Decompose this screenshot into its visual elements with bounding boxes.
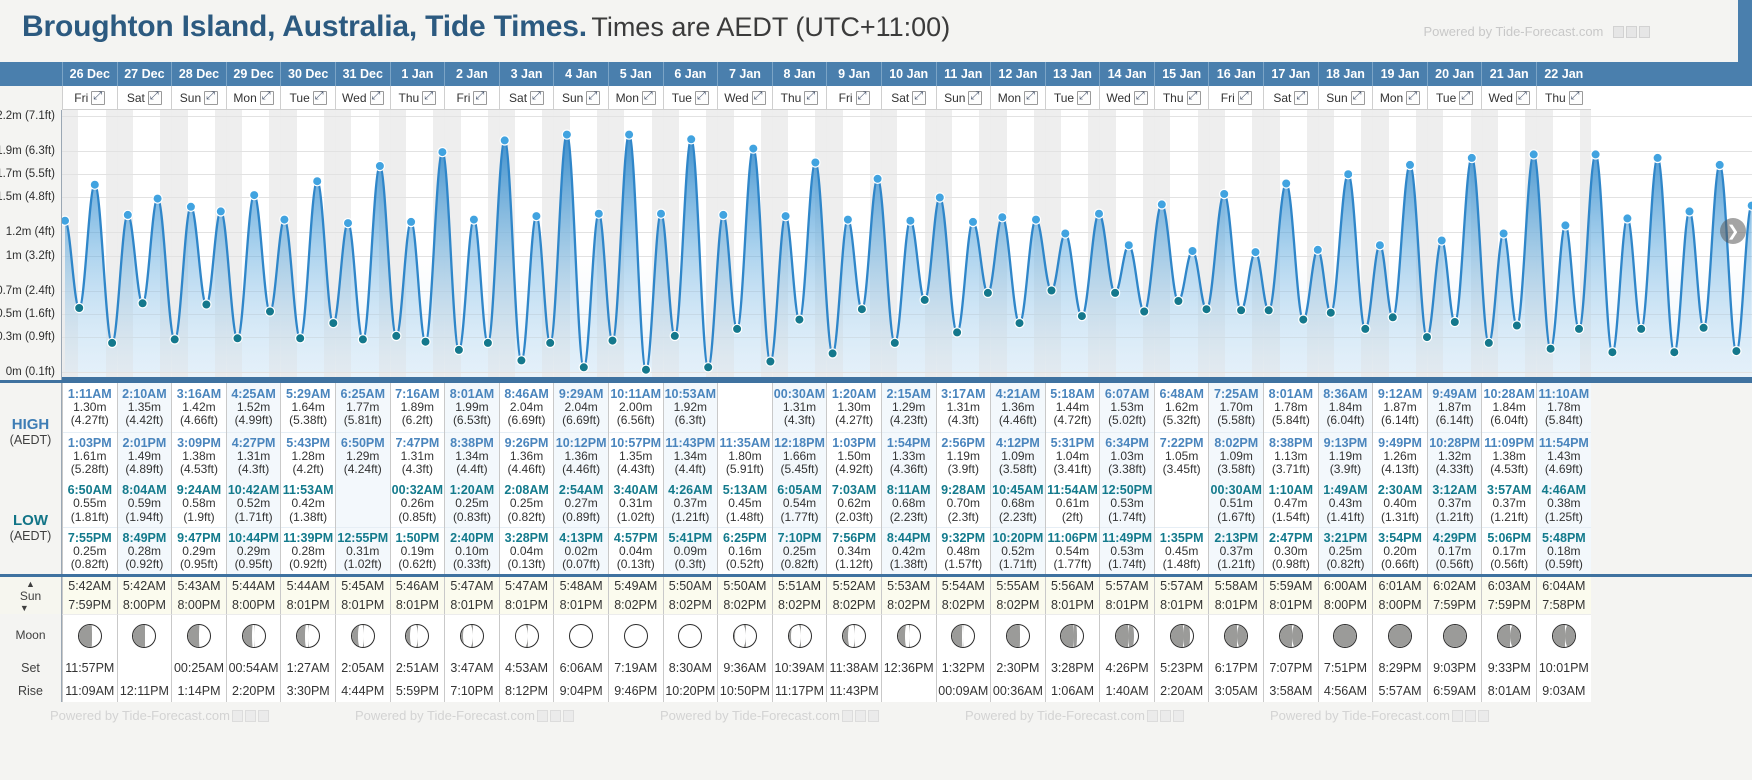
weekday-header-cell[interactable]: Mon xyxy=(1372,86,1427,110)
expand-icon[interactable] xyxy=(642,91,656,105)
high-tide-point[interactable] xyxy=(906,216,915,225)
moon-phase-cell xyxy=(280,614,335,656)
high-tide-cell[interactable]: 2:10AM1.35m(4.42ft)2:01PM1.49m(4.89ft) xyxy=(117,383,172,480)
weekday-header-cell[interactable]: Sun xyxy=(936,86,991,110)
low-tide-point[interactable] xyxy=(795,315,804,324)
expand-icon[interactable] xyxy=(752,91,766,105)
tide-event: 8:49PM0.28m(0.92ft) xyxy=(118,527,172,574)
high-tide-point[interactable] xyxy=(749,144,758,153)
high-tide-point[interactable] xyxy=(1405,160,1414,169)
sunrise-time: 5:55AM xyxy=(996,577,1039,595)
tide-height-m: 0.42m xyxy=(892,545,925,558)
weekday-header-cell[interactable]: Sat xyxy=(1263,86,1318,110)
high-tide-cell[interactable]: 2:15AM1.29m(4.23ft)1:54PM1.33m(4.36ft) xyxy=(881,383,936,480)
date-header-cell[interactable]: 5 Jan xyxy=(608,62,663,86)
high-tide-point[interactable] xyxy=(625,130,634,139)
date-header-cell[interactable]: 10 Jan xyxy=(881,62,936,86)
low-tide-point[interactable] xyxy=(641,365,650,374)
date-header-cell[interactable]: 31 Dec xyxy=(335,62,390,86)
tide-time: 2:10AM xyxy=(122,387,166,401)
high-tide-point[interactable] xyxy=(843,215,852,224)
low-tide-point[interactable] xyxy=(1637,324,1646,333)
footer-watermark: Powered by Tide-Forecast.com xyxy=(50,708,269,723)
weekday-header-cell[interactable]: Fri xyxy=(62,86,117,110)
high-tide-cell[interactable]: 1:20AM1.30m(4.27ft)1:03PM1.50m(4.92ft) xyxy=(826,383,881,480)
high-tide-point[interactable] xyxy=(935,193,944,202)
tide-height-ft: (2.23ft) xyxy=(999,511,1037,524)
tide-height-ft: (6.3ft) xyxy=(675,414,706,427)
high-tide-cell[interactable]: 9:12AM1.87m(6.14ft)9:49PM1.26m(4.13ft) xyxy=(1372,383,1427,480)
low-tide-cell[interactable]: 1:20AM0.25m(0.83ft)2:40PM0.10m(0.33ft) xyxy=(444,480,499,574)
weekday-header-cell[interactable]: Fri xyxy=(826,86,881,110)
high-tide-point[interactable] xyxy=(1094,209,1103,218)
tide-height-ft: (5.02ft) xyxy=(1108,414,1146,427)
weekday-header-cell[interactable]: Fri xyxy=(444,86,499,110)
low-tide-point[interactable] xyxy=(108,338,117,347)
weekday-header-cell[interactable]: Sun xyxy=(553,86,608,110)
expand-icon[interactable] xyxy=(968,91,982,105)
date-header-cell[interactable]: 6 Jan xyxy=(663,62,718,86)
low-tide-point[interactable] xyxy=(953,328,962,337)
high-tide-point[interactable] xyxy=(1653,153,1662,162)
next-page-arrow-icon[interactable]: ❯ xyxy=(1720,218,1746,244)
low-tide-point[interactable] xyxy=(233,334,242,343)
low-tide-cell[interactable]: 8:04AM0.59m(1.94ft)8:49PM0.28m(0.92ft) xyxy=(117,480,172,574)
weekday-header-cell[interactable]: Tue xyxy=(1427,86,1482,110)
expand-icon[interactable] xyxy=(912,91,926,105)
weekday-header-cell[interactable]: Wed xyxy=(717,86,772,110)
low-tide-cell[interactable]: 4:26AM0.37m(1.21ft)5:41PM0.09m(0.3ft) xyxy=(663,480,718,574)
high-tide-point[interactable] xyxy=(594,209,603,218)
expand-icon[interactable] xyxy=(1351,91,1365,105)
high-tide-point[interactable] xyxy=(1031,215,1040,224)
low-tide-point[interactable] xyxy=(890,338,899,347)
weekday-header-cell[interactable]: Tue xyxy=(663,86,718,110)
sunrise-time: 6:02AM xyxy=(1433,577,1476,595)
tide-height-m: 0.55m xyxy=(73,497,106,510)
high-tide-point[interactable] xyxy=(1715,160,1724,169)
date-header-cell[interactable]: 26 Dec xyxy=(62,62,117,86)
date-header-cell[interactable]: 22 Jan xyxy=(1536,62,1591,86)
weekday-header-cell[interactable]: Wed xyxy=(1481,86,1536,110)
low-tide-point[interactable] xyxy=(857,305,866,314)
tide-height-m: 1.31m xyxy=(401,450,434,463)
tide-height-ft: (4.13ft) xyxy=(1381,463,1419,476)
low-tide-point[interactable] xyxy=(1264,306,1273,315)
low-tide-point[interactable] xyxy=(1388,313,1397,322)
high-tide-point[interactable] xyxy=(719,210,728,219)
high-tide-cell[interactable]: 11:10AM1.78m(5.84ft)11:54PM1.43m(4.69ft) xyxy=(1536,383,1591,480)
expand-icon[interactable] xyxy=(1077,91,1091,105)
tide-height-m: 0.45m xyxy=(728,497,761,510)
sunset-time: 8:00PM xyxy=(232,596,275,614)
high-tide-point[interactable] xyxy=(687,135,696,144)
footer-watermark: Powered by Tide-Forecast.com xyxy=(1270,708,1489,723)
tide-height-m: 0.70m xyxy=(947,497,980,510)
expand-icon[interactable] xyxy=(530,91,544,105)
date-header-cell[interactable]: 8 Jan xyxy=(772,62,827,86)
page-title: Broughton Island, Australia, Tide Times.… xyxy=(22,10,950,44)
low-tide-point[interactable] xyxy=(1422,333,1431,342)
high-tide-point[interactable] xyxy=(186,202,195,211)
date-header-cell[interactable]: 30 Dec xyxy=(280,62,335,86)
high-tide-point[interactable] xyxy=(1220,189,1229,198)
low-tide-cell[interactable]: 10:45AM0.68m(2.23ft)10:20PM0.52m(1.71ft) xyxy=(990,480,1045,574)
moonrise-time: 1:40AM xyxy=(1099,679,1154,702)
moon-phase-icon xyxy=(132,624,156,648)
date-header-cell[interactable]: 1 Jan xyxy=(390,62,445,86)
expand-icon[interactable] xyxy=(260,91,274,105)
high-tide-point[interactable] xyxy=(90,180,99,189)
low-tide-cell[interactable]: 6:50AM0.55m(1.81ft)7:55PM0.25m(0.82ft) xyxy=(62,480,117,574)
weekday-header-cell[interactable]: Sun xyxy=(1318,86,1373,110)
low-tide-point[interactable] xyxy=(1174,296,1183,305)
low-tide-point[interactable] xyxy=(1699,323,1708,332)
expand-icon[interactable] xyxy=(1024,91,1038,105)
high-tide-point[interactable] xyxy=(1251,248,1260,257)
high-tide-point[interactable] xyxy=(216,207,225,216)
high-tide-cell[interactable]: 10:11AM2.00m(6.56ft)10:57PM1.35m(4.43ft) xyxy=(608,383,663,480)
date-header-cell[interactable]: 29 Dec xyxy=(226,62,281,86)
low-tide-cell[interactable]: 2:30AM0.40m(1.31ft)3:54PM0.20m(0.66ft) xyxy=(1372,480,1427,574)
high-tide-point[interactable] xyxy=(62,216,70,225)
low-tide-point[interactable] xyxy=(1670,348,1679,357)
low-tide-cell[interactable]: 11:53AM0.42m(1.38ft)11:39PM0.28m(0.92ft) xyxy=(280,480,335,574)
low-tide-cell[interactable]: 11:54AM0.61m(2ft)11:06PM0.54m(1.77ft) xyxy=(1045,480,1100,574)
high-tide-cell[interactable]: 4:25AM1.52m(4.99ft)4:27PM1.31m(4.3ft) xyxy=(226,383,281,480)
high-tide-point[interactable] xyxy=(1437,236,1446,245)
tide-height-m: 0.18m xyxy=(1547,545,1580,558)
high-tide-point[interactable] xyxy=(313,177,322,186)
expand-icon[interactable] xyxy=(1406,91,1420,105)
low-tide-point[interactable] xyxy=(1237,306,1246,315)
high-tide-cell[interactable]: 6:48AM1.62m(5.32ft)7:22PM1.05m(3.45ft) xyxy=(1154,383,1209,480)
low-tide-point[interactable] xyxy=(1512,321,1521,330)
high-tide-point[interactable] xyxy=(1157,200,1166,209)
high-tide-point[interactable] xyxy=(968,217,977,226)
weekday-header-cell[interactable]: Thu xyxy=(1154,86,1209,110)
low-tide-point[interactable] xyxy=(392,331,401,340)
date-header-cell[interactable]: 2 Jan xyxy=(444,62,499,86)
tide-event: 12:50PM0.53m(1.74ft) xyxy=(1100,480,1154,527)
low-tide-point[interactable] xyxy=(454,345,463,354)
date-header-cell[interactable]: 4 Jan xyxy=(553,62,608,86)
weekday-header-cell[interactable]: Mon xyxy=(990,86,1045,110)
tide-time: 8:11AM xyxy=(887,483,931,497)
low-tide-point[interactable] xyxy=(1140,307,1149,316)
low-tide-point[interactable] xyxy=(138,299,147,308)
high-tide-point[interactable] xyxy=(1313,245,1322,254)
low-tide-cell[interactable]: 12:50PM0.53m(1.74ft)11:49PM0.53m(1.74ft) xyxy=(1099,480,1154,574)
tide-event: 10:28AM1.84m(6.04ft) xyxy=(1482,383,1536,432)
high-tide-cell[interactable]: 6:25AM1.77m(5.81ft)6:50PM1.29m(4.24ft) xyxy=(335,383,390,480)
expand-icon[interactable] xyxy=(473,91,487,105)
low-tide-point[interactable] xyxy=(170,335,179,344)
high-tide-point[interactable] xyxy=(1344,170,1353,179)
tide-height-m: 1.49m xyxy=(128,450,161,463)
high-tide-cell[interactable]: 4:21AM1.36m(4.46ft)4:12PM1.09m(3.58ft) xyxy=(990,383,1045,480)
high-tide-point[interactable] xyxy=(1467,153,1476,162)
moonset-time: 10:01PM xyxy=(1536,656,1591,679)
tide-event: 9:49PM1.26m(4.13ft) xyxy=(1373,432,1427,481)
low-tide-cell[interactable]: 00:30AM0.51m(1.67ft)2:13PM0.37m(1.21ft) xyxy=(1208,480,1263,574)
high-tide-point[interactable] xyxy=(1747,201,1752,210)
high-tide-point[interactable] xyxy=(250,191,259,200)
high-tide-cell[interactable]: 8:46AM2.04m(6.69ft)9:26PM1.36m(4.46ft) xyxy=(499,383,554,480)
low-tide-point[interactable] xyxy=(1546,344,1555,353)
high-tide-point[interactable] xyxy=(438,148,447,157)
date-header-cell[interactable]: 18 Jan xyxy=(1318,62,1373,86)
expand-icon[interactable] xyxy=(313,91,327,105)
low-tide-point[interactable] xyxy=(1111,288,1120,297)
weekday-header-cell[interactable]: Sat xyxy=(117,86,172,110)
low-tide-point[interactable] xyxy=(1361,324,1370,333)
high-tide-point[interactable] xyxy=(375,161,384,170)
date-header-cell[interactable]: 13 Jan xyxy=(1045,62,1100,86)
low-tide-cell[interactable]: 1:49AM0.43m(1.41ft)3:21PM0.25m(0.82ft) xyxy=(1318,480,1373,574)
high-tide-point[interactable] xyxy=(811,158,820,167)
weekday-header-cell[interactable]: Sat xyxy=(881,86,936,110)
high-tide-point[interactable] xyxy=(1061,229,1070,238)
low-tide-cell[interactable]: 4:46AM0.38m(1.25ft)5:48PM0.18m(0.59ft) xyxy=(1536,480,1591,574)
high-tide-point[interactable] xyxy=(532,212,541,221)
expand-icon[interactable] xyxy=(856,91,870,105)
low-tide-cell[interactable]: 3:12AM0.37m(1.21ft)4:29PM0.17m(0.56ft) xyxy=(1427,480,1482,574)
high-tide-point[interactable] xyxy=(1499,229,1508,238)
tide-event: 5:41PM0.09m(0.3ft) xyxy=(664,527,718,574)
low-tide-point[interactable] xyxy=(1608,348,1617,357)
high-tide-cell[interactable]: 6:07AM1.53m(5.02ft)6:34PM1.03m(3.38ft) xyxy=(1099,383,1154,480)
low-tide-point[interactable] xyxy=(483,338,492,347)
tide-event: 1:20AM0.25m(0.83ft) xyxy=(445,480,499,527)
expand-icon[interactable] xyxy=(1187,91,1201,105)
low-tide-cell[interactable]: 3:57AM0.37m(1.21ft)5:06PM0.17m(0.56ft) xyxy=(1481,480,1536,574)
date-header-cell[interactable]: 20 Jan xyxy=(1427,62,1482,86)
low-tide-point[interactable] xyxy=(766,357,775,366)
weekday-header-cell[interactable]: Sat xyxy=(499,86,554,110)
expand-icon[interactable] xyxy=(1459,91,1473,105)
low-tide-cell[interactable]: 3:40AM0.31m(1.02ft)4:57PM0.04m(0.13ft) xyxy=(608,480,663,574)
high-tide-point[interactable] xyxy=(343,219,352,228)
sunrise-time: 5:52AM xyxy=(833,577,876,595)
low-tide-cell[interactable]: 9:28AM0.70m(2.3ft)9:32PM0.48m(1.57ft) xyxy=(936,480,991,574)
weekday-header-cell[interactable]: Mon xyxy=(226,86,281,110)
low-tide-point[interactable] xyxy=(1484,338,1493,347)
high-tide-cell[interactable]: 8:36AM1.84m(6.04ft)9:13PM1.19m(3.9ft) xyxy=(1318,383,1373,480)
high-tide-point[interactable] xyxy=(1561,221,1570,230)
moon-phase-cell xyxy=(117,614,172,656)
high-tide-cell[interactable]: 1:11AM1.30m(4.27ft)1:03PM1.61m(5.28ft) xyxy=(62,383,117,480)
date-header-cell[interactable]: 16 Jan xyxy=(1208,62,1263,86)
low-tide-point[interactable] xyxy=(1574,324,1583,333)
powered-by-header: Powered by Tide-Forecast.com xyxy=(1423,24,1652,41)
expand-icon[interactable] xyxy=(204,91,218,105)
high-tide-cell[interactable]: 10:28AM1.84m(6.04ft)11:09PM1.38m(4.53ft) xyxy=(1481,383,1536,480)
high-tide-cell[interactable]: 5:29AM1.64m(5.38ft)5:43PM1.28m(4.2ft) xyxy=(280,383,335,480)
date-header-cell[interactable]: 9 Jan xyxy=(826,62,881,86)
low-tide-point[interactable] xyxy=(1015,319,1024,328)
high-tide-cell[interactable]: 9:49AM1.87m(6.14ft)10:28PM1.32m(4.33ft) xyxy=(1427,383,1482,480)
low-tide-point[interactable] xyxy=(704,363,713,372)
high-tide-point[interactable] xyxy=(1591,150,1600,159)
weekday-header-cell[interactable]: Thu xyxy=(390,86,445,110)
high-tide-point[interactable] xyxy=(500,136,509,145)
low-tide-cell[interactable]: 7:03AM0.62m(2.03ft)7:56PM0.34m(1.12ft) xyxy=(826,480,881,574)
low-tide-point[interactable] xyxy=(670,331,679,340)
low-tide-point[interactable] xyxy=(517,356,526,365)
expand-icon[interactable] xyxy=(370,91,384,105)
tide-event: 1:49AM0.43m(1.41ft) xyxy=(1319,480,1373,527)
high-tide-point[interactable] xyxy=(1282,179,1291,188)
weekday-header-cell[interactable]: Mon xyxy=(608,86,663,110)
low-tide-point[interactable] xyxy=(329,319,338,328)
high-tide-cell[interactable]: 8:01AM1.78m(5.84ft)8:38PM1.13m(3.71ft) xyxy=(1263,383,1318,480)
low-tide-point[interactable] xyxy=(579,363,588,372)
low-tide-point[interactable] xyxy=(296,334,305,343)
high-tide-point[interactable] xyxy=(153,194,162,203)
high-tide-cell[interactable]: 00:30AM1.31m(4.3ft)12:18PM1.66m(5.45ft) xyxy=(772,383,827,480)
expand-icon[interactable] xyxy=(422,91,436,105)
low-tide-point[interactable] xyxy=(608,336,617,345)
low-tide-point[interactable] xyxy=(1077,312,1086,321)
high-tide-point[interactable] xyxy=(123,210,132,219)
low-tide-point[interactable] xyxy=(202,300,211,309)
tide-time: 9:29AM xyxy=(559,387,603,401)
low-tide-point[interactable] xyxy=(358,335,367,344)
high-tide-cell[interactable]: 9:29AM2.04m(6.69ft)10:12PM1.36m(4.46ft) xyxy=(553,383,608,480)
expand-icon[interactable] xyxy=(695,91,709,105)
high-tide-point[interactable] xyxy=(280,215,289,224)
low-tide-point[interactable] xyxy=(421,337,430,346)
tide-time: 10:57PM xyxy=(610,436,661,450)
low-tide-point[interactable] xyxy=(1202,305,1211,314)
low-tide-cell[interactable]: 2:54AM0.27m(0.89ft)4:13PM0.02m(0.07ft) xyxy=(553,480,608,574)
high-tide-point[interactable] xyxy=(1188,246,1197,255)
tide-event: 11:54PM1.43m(4.69ft) xyxy=(1537,432,1591,481)
low-tide-cell[interactable]: 9:24AM0.58m(1.9ft)9:47PM0.29m(0.95ft) xyxy=(171,480,226,574)
weekday-header-cell[interactable]: Tue xyxy=(1045,86,1100,110)
expand-icon[interactable] xyxy=(804,91,818,105)
date-header-cell[interactable]: 15 Jan xyxy=(1154,62,1209,86)
date-header-cell[interactable]: 19 Jan xyxy=(1372,62,1427,86)
high-tide-point[interactable] xyxy=(1623,214,1632,223)
tide-event: 9:28AM0.70m(2.3ft) xyxy=(937,480,991,527)
low-tide-point[interactable] xyxy=(1299,315,1308,324)
moon-phase-cell xyxy=(390,614,445,656)
low-tide-cell[interactable]: 2:08AM0.25m(0.82ft)3:28PM0.04m(0.13ft) xyxy=(499,480,554,574)
tide-event: 4:25AM1.52m(4.99ft) xyxy=(227,383,281,432)
low-tide-point[interactable] xyxy=(1047,286,1056,295)
date-header-cell[interactable]: 12 Jan xyxy=(990,62,1045,86)
high-tide-cell[interactable]: 3:16AM1.42m(4.66ft)3:09PM1.38m(4.53ft) xyxy=(171,383,226,480)
date-header-cell[interactable]: 14 Jan xyxy=(1099,62,1154,86)
high-tide-cell[interactable]: 11:35AM1.80m(5.91ft) xyxy=(717,383,772,480)
low-tide-point[interactable] xyxy=(920,295,929,304)
low-tide-cell[interactable]: 00:32AM0.26m(0.85ft)1:50PM0.19m(0.62ft) xyxy=(390,480,445,574)
weekday-header-cell[interactable]: Wed xyxy=(1099,86,1154,110)
low-tide-cell[interactable]: 10:42AM0.52m(1.71ft)10:44PM0.29m(0.95ft) xyxy=(226,480,281,574)
low-tide-point[interactable] xyxy=(733,324,742,333)
high-tide-cell[interactable]: 10:53AM1.92m(6.3ft)11:43PM1.34m(4.4ft) xyxy=(663,383,718,480)
high-tide-cell[interactable]: 8:01AM1.99m(6.53ft)8:38PM1.34m(4.4ft) xyxy=(444,383,499,480)
high-tide-point[interactable] xyxy=(407,217,416,226)
high-tide-point[interactable] xyxy=(1685,207,1694,216)
low-tide-cell[interactable]: 5:13AM0.45m(1.48ft)6:25PM0.16m(0.52ft) xyxy=(717,480,772,574)
high-tide-point[interactable] xyxy=(562,130,571,139)
expand-icon[interactable] xyxy=(586,91,600,105)
low-tide-cell[interactable]: 1:10AM0.47m(1.54ft)2:47PM0.30m(0.98ft) xyxy=(1263,480,1318,574)
high-tide-point[interactable] xyxy=(873,174,882,183)
tide-height-ft: (5.58ft) xyxy=(1217,414,1255,427)
date-header-cell[interactable]: 3 Jan xyxy=(499,62,554,86)
weekday-header-cell[interactable]: Thu xyxy=(1536,86,1591,110)
low-tide-point[interactable] xyxy=(546,338,555,347)
tide-event: 10:53AM1.92m(6.3ft) xyxy=(664,383,718,432)
high-tide-point[interactable] xyxy=(656,209,665,218)
date-header-cell[interactable]: 7 Jan xyxy=(717,62,772,86)
date-header-cell[interactable]: 21 Jan xyxy=(1481,62,1536,86)
low-tide-point[interactable] xyxy=(265,307,274,316)
expand-icon[interactable] xyxy=(1516,91,1530,105)
low-tide-cell[interactable]: 6:05AM0.54m(1.77ft)7:10PM0.25m(0.82ft) xyxy=(772,480,827,574)
weekday-header-cell[interactable]: Thu xyxy=(772,86,827,110)
low-tide-point[interactable] xyxy=(75,303,84,312)
expand-icon[interactable] xyxy=(1569,91,1583,105)
high-tide-cell[interactable]: 7:25AM1.70m(5.58ft)8:02PM1.09m(3.58ft) xyxy=(1208,383,1263,480)
high-tide-cell[interactable]: 3:17AM1.31m(4.3ft)2:56PM1.19m(3.9ft) xyxy=(936,383,991,480)
low-tide-point[interactable] xyxy=(1326,308,1335,317)
tide-time: 4:46AM xyxy=(1542,483,1586,497)
date-header-cell[interactable]: 27 Dec xyxy=(117,62,172,86)
low-tide-cell[interactable]: 12:55PM0.31m(1.02ft) xyxy=(335,480,390,574)
weekday-header-cell[interactable]: Tue xyxy=(280,86,335,110)
high-tide-cell[interactable]: 5:18AM1.44m(4.72ft)5:31PM1.04m(3.41ft) xyxy=(1045,383,1100,480)
high-tide-point[interactable] xyxy=(1375,241,1384,250)
low-tide-point[interactable] xyxy=(983,288,992,297)
high-tide-point[interactable] xyxy=(469,215,478,224)
weekday-header-cell[interactable]: Sun xyxy=(171,86,226,110)
date-header-cell[interactable]: 11 Jan xyxy=(936,62,991,86)
high-tide-point[interactable] xyxy=(998,213,1007,222)
weekday-header-cell[interactable]: Fri xyxy=(1208,86,1263,110)
expand-icon[interactable] xyxy=(1134,91,1148,105)
high-tide-point[interactable] xyxy=(1529,150,1538,159)
tide-time: 2:30AM xyxy=(1378,483,1422,497)
date-header-cell[interactable]: 17 Jan xyxy=(1263,62,1318,86)
low-tide-cell[interactable]: 1:35PM0.45m(1.48ft) xyxy=(1154,480,1209,574)
expand-icon[interactable] xyxy=(1238,91,1252,105)
high-tide-cell[interactable]: 7:16AM1.89m(6.2ft)7:47PM1.31m(4.3ft) xyxy=(390,383,445,480)
high-tide-point[interactable] xyxy=(1124,241,1133,250)
low-tide-cell[interactable]: 8:11AM0.68m(2.23ft)8:44PM0.42m(1.38ft) xyxy=(881,480,936,574)
low-tide-point[interactable] xyxy=(1732,347,1741,356)
tide-height-m: 1.77m xyxy=(346,401,379,414)
high-tide-point[interactable] xyxy=(781,212,790,221)
tide-height-ft: (4.66ft) xyxy=(180,414,218,427)
tide-height-ft: (4.27ft) xyxy=(835,414,873,427)
tide-height-ft: (1.67ft) xyxy=(1217,511,1255,524)
low-tide-point[interactable] xyxy=(1450,317,1459,326)
date-header-cell[interactable]: 28 Dec xyxy=(171,62,226,86)
y-axis-tick: 1.9m (6.3ft) xyxy=(0,145,55,157)
low-tide-point[interactable] xyxy=(828,349,837,358)
tide-chart-plot[interactable]: ❯ xyxy=(62,110,1752,380)
weekday-header-cell[interactable]: Wed xyxy=(335,86,390,110)
sunset-time: 8:01PM xyxy=(287,596,330,614)
expand-icon[interactable] xyxy=(148,91,162,105)
expand-icon[interactable] xyxy=(1294,91,1308,105)
expand-icon[interactable] xyxy=(91,91,105,105)
